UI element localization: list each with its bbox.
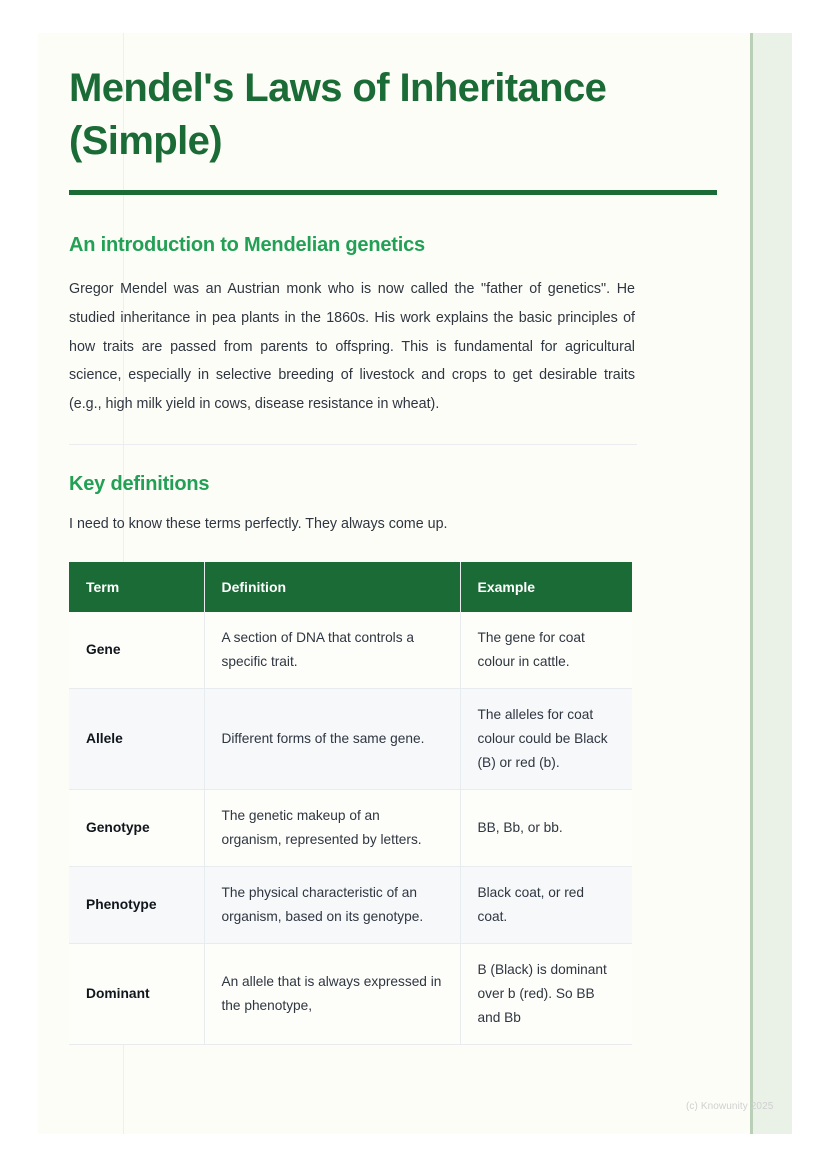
section-heading-introduction: An introduction to Mendelian genetics — [69, 195, 669, 257]
table-row: Gene A section of DNA that controls a sp… — [69, 612, 632, 688]
cell-term: Dominant — [69, 943, 204, 1044]
cell-example: BB, Bb, or bb. — [460, 790, 632, 867]
introduction-paragraph: Gregor Mendel was an Austrian monk who i… — [69, 257, 635, 418]
right-side-panel-edge — [750, 33, 753, 1134]
table-row: Phenotype The physical characteristic of… — [69, 867, 632, 944]
document-content: Mendel's Laws of Inheritance (Simple) An… — [69, 33, 669, 1045]
key-definitions-lead-text: I need to know these terms perfectly. Th… — [69, 496, 669, 536]
cell-term: Gene — [69, 612, 204, 688]
key-definitions-table-wrapper: Term Definition Example Gene A section o… — [69, 536, 669, 1045]
cell-definition: An allele that is always expressed in th… — [204, 943, 460, 1044]
table-header-example: Example — [460, 562, 632, 612]
cell-term: Allele — [69, 689, 204, 790]
key-definitions-table: Term Definition Example Gene A section o… — [69, 562, 632, 1045]
copyright-watermark: (c) Knowunity 2025 — [686, 1101, 773, 1112]
cell-definition: The physical characteristic of an organi… — [204, 867, 460, 944]
cell-example: The gene for coat colour in cattle. — [460, 612, 632, 688]
cell-term: Genotype — [69, 790, 204, 867]
table-header-term: Term — [69, 562, 204, 612]
document-page: Mendel's Laws of Inheritance (Simple) An… — [38, 33, 792, 1134]
table-row: Genotype The genetic makeup of an organi… — [69, 790, 632, 867]
cell-definition: The genetic makeup of an organism, repre… — [204, 790, 460, 867]
table-header-definition: Definition — [204, 562, 460, 612]
cell-term: Phenotype — [69, 867, 204, 944]
table-row: Dominant An allele that is always expres… — [69, 943, 632, 1044]
page-title: Mendel's Laws of Inheritance (Simple) — [69, 33, 669, 168]
section-heading-key-definitions: Key definitions — [69, 445, 669, 496]
cell-definition: A section of DNA that controls a specifi… — [204, 612, 460, 688]
table-head: Term Definition Example — [69, 562, 632, 612]
cell-example: The alleles for coat colour could be Bla… — [460, 689, 632, 790]
table-body: Gene A section of DNA that controls a sp… — [69, 612, 632, 1044]
cell-example: Black coat, or red coat. — [460, 867, 632, 944]
right-side-panel — [750, 33, 792, 1134]
table-header-row: Term Definition Example — [69, 562, 632, 612]
cell-definition: Different forms of the same gene. — [204, 689, 460, 790]
cell-example: B (Black) is dominant over b (red). So B… — [460, 943, 632, 1044]
table-row: Allele Different forms of the same gene.… — [69, 689, 632, 790]
